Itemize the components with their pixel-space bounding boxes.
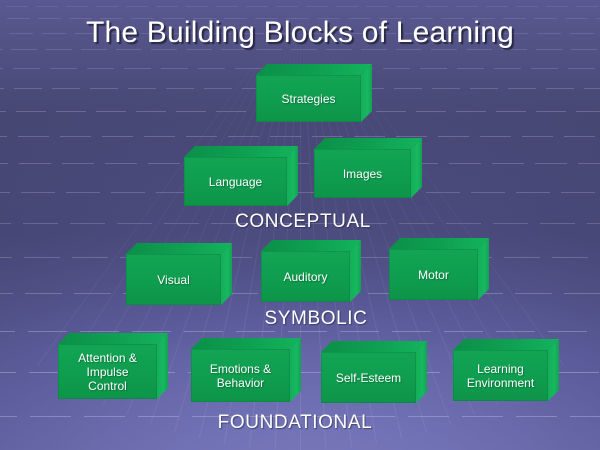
block-front-face: LearningEnvironment — [453, 350, 548, 401]
block-label: Emotions &Behavior — [205, 362, 276, 390]
block-learning-environment[interactable]: LearningEnvironment — [453, 339, 559, 401]
block-self-esteem[interactable]: Self-Esteem — [321, 341, 427, 403]
block-label: Language — [204, 175, 267, 189]
block-label: Visual — [152, 273, 194, 287]
block-label: Attention &ImpulseControl — [73, 351, 142, 393]
tier-label-foundational: FOUNDATIONAL — [218, 412, 373, 434]
block-top-face — [389, 238, 489, 249]
block-strategies[interactable]: Strategies — [256, 64, 372, 122]
block-top-face — [321, 341, 427, 352]
tier-label-symbolic: SYMBOLIC — [265, 308, 368, 330]
block-top-face — [256, 64, 372, 75]
block-top-face — [126, 243, 232, 254]
block-front-face: Auditory — [261, 251, 350, 302]
block-top-face — [184, 146, 298, 157]
block-images[interactable]: Images — [314, 138, 422, 198]
block-top-face — [58, 333, 168, 344]
block-label: Images — [338, 167, 387, 181]
block-front-face: Attention &ImpulseControl — [58, 344, 157, 399]
block-label: Strategies — [276, 92, 340, 106]
block-top-face — [261, 240, 361, 251]
block-front-face: Emotions &Behavior — [191, 349, 290, 402]
block-front-face: Visual — [126, 254, 221, 305]
block-label: Motor — [413, 268, 454, 282]
block-front-face: Motor — [389, 249, 478, 300]
block-attention-impulse-control[interactable]: Attention &ImpulseControl — [58, 333, 168, 399]
block-front-face: Strategies — [256, 75, 361, 122]
slide-title: The Building Blocks of Learning — [0, 16, 600, 50]
block-language[interactable]: Language — [184, 146, 298, 206]
slide-canvas: The Building Blocks of Learning Strategi… — [0, 0, 600, 450]
block-emotions-behavior[interactable]: Emotions &Behavior — [191, 338, 301, 402]
tier-label-conceptual: CONCEPTUAL — [235, 211, 371, 233]
block-visual[interactable]: Visual — [126, 243, 232, 305]
block-top-face — [191, 338, 301, 349]
block-label: Auditory — [278, 270, 332, 284]
block-top-face — [314, 138, 422, 149]
block-motor[interactable]: Motor — [389, 238, 489, 300]
block-label: LearningEnvironment — [462, 362, 539, 390]
block-top-face — [453, 339, 559, 350]
block-side-face — [157, 333, 168, 399]
block-front-face: Self-Esteem — [321, 352, 416, 403]
block-front-face: Language — [184, 157, 287, 206]
block-side-face — [290, 338, 301, 402]
block-auditory[interactable]: Auditory — [261, 240, 361, 302]
block-front-face: Images — [314, 149, 411, 198]
block-label: Self-Esteem — [331, 371, 406, 385]
